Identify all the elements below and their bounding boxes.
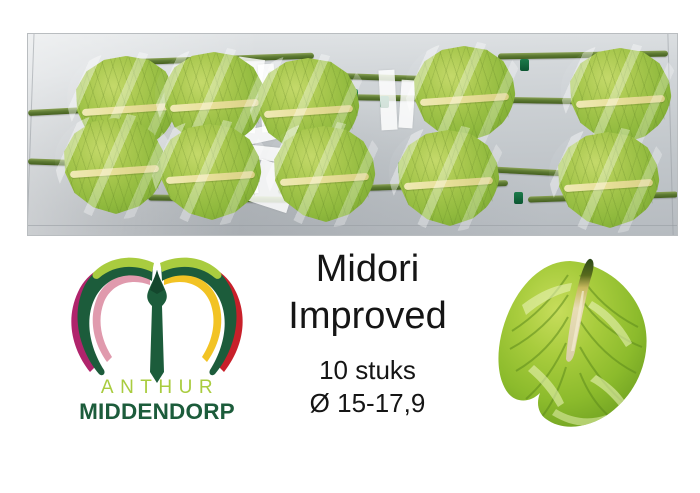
cellophane-sleeve — [151, 119, 269, 225]
cellophane-sleeve — [265, 121, 383, 227]
product-spec-block: 10 stuks Ø 15-17,9 — [255, 354, 480, 420]
product-diameter: Ø 15-17,9 — [255, 387, 480, 420]
brand-name-middendorp: MIDDENDORP — [62, 399, 252, 425]
stem-clip — [514, 192, 523, 204]
brand-logo: ANTHUR MIDDENDORP — [62, 248, 252, 434]
product-photo — [27, 33, 678, 236]
flower-closeup-photo — [496, 247, 652, 437]
product-info-block: Midori Improved 10 stuks Ø 15-17,9 — [255, 246, 480, 420]
product-quantity: 10 stuks — [255, 354, 480, 387]
brand-wordmark: ANTHUR MIDDENDORP — [62, 378, 252, 425]
product-label-page: ANTHUR MIDDENDORP Midori Improved 10 stu… — [0, 0, 700, 493]
stem-clip — [520, 59, 529, 71]
brand-name-anthur: ANTHUR — [62, 378, 252, 397]
packed-flower — [272, 126, 376, 222]
anthurium-bloom-illustration — [496, 247, 652, 437]
packed-flower — [158, 124, 262, 220]
product-name-line-1: Midori — [255, 246, 480, 293]
packed-flower — [556, 132, 660, 228]
cellophane-sleeve — [389, 125, 507, 231]
packed-flower — [396, 130, 500, 226]
packing-tape — [378, 70, 397, 131]
cellophane-sleeve — [549, 127, 667, 233]
product-name-line-2: Improved — [255, 293, 480, 340]
